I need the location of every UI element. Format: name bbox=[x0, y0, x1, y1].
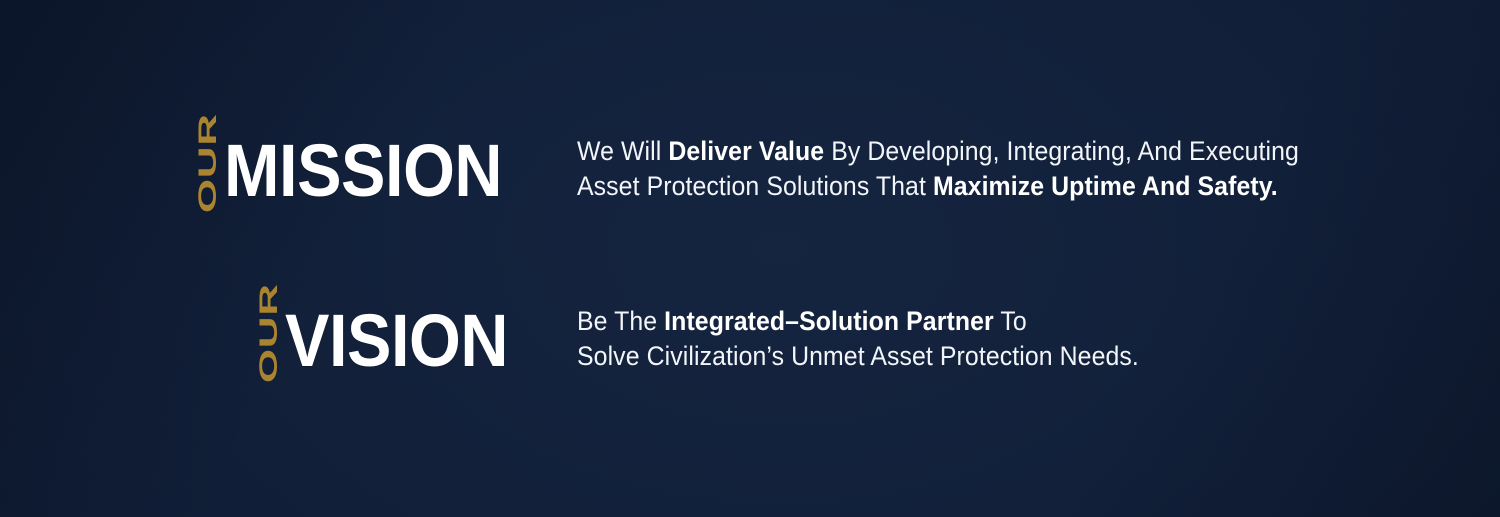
mission-section: OUR MISSION We Will Deliver Value By Dev… bbox=[0, 128, 1500, 204]
banner-content: OUR MISSION We Will Deliver Value By Dev… bbox=[0, 0, 1500, 517]
vision-heading: OUR VISION bbox=[253, 298, 533, 368]
mission-body: We Will Deliver Value By Developing, Int… bbox=[577, 128, 1362, 204]
mission-body-line-1: We Will Deliver Value By Developing, Int… bbox=[577, 134, 1299, 169]
vision-section: OUR VISION Be The Integrated–Solution Pa… bbox=[0, 298, 1500, 374]
mission-eyebrow-our: OUR bbox=[195, 113, 220, 213]
vision-heading-column: OUR VISION bbox=[0, 298, 533, 368]
vision-body-line-1: Be The Integrated–Solution Partner To bbox=[577, 304, 1139, 339]
plain-text: Solve Civilization’s Unmet Asset Protect… bbox=[577, 341, 1139, 371]
emphasis-text: Integrated–Solution Partner bbox=[664, 306, 994, 336]
plain-text: Be The bbox=[577, 306, 664, 336]
emphasis-text: Maximize Uptime And Safety. bbox=[933, 171, 1278, 201]
mission-title: MISSION bbox=[224, 144, 502, 199]
plain-text: We Will bbox=[577, 136, 668, 166]
plain-text: By Developing, Integrating, And Executin… bbox=[824, 136, 1299, 166]
mission-heading: OUR MISSION bbox=[192, 128, 533, 198]
emphasis-text: Deliver Value bbox=[668, 136, 824, 166]
mission-vision-banner: OUR MISSION We Will Deliver Value By Dev… bbox=[0, 0, 1500, 517]
plain-text: To bbox=[994, 306, 1027, 336]
vision-body-line-2: Solve Civilization’s Unmet Asset Protect… bbox=[577, 339, 1139, 374]
vision-body: Be The Integrated–Solution Partner To So… bbox=[577, 298, 1188, 374]
plain-text: Asset Protection Solutions That bbox=[577, 171, 933, 201]
mission-heading-column: OUR MISSION bbox=[0, 128, 533, 198]
mission-body-line-2: Asset Protection Solutions That Maximize… bbox=[577, 169, 1299, 204]
vision-eyebrow-our: OUR bbox=[256, 283, 281, 383]
vision-title: VISION bbox=[285, 314, 508, 369]
